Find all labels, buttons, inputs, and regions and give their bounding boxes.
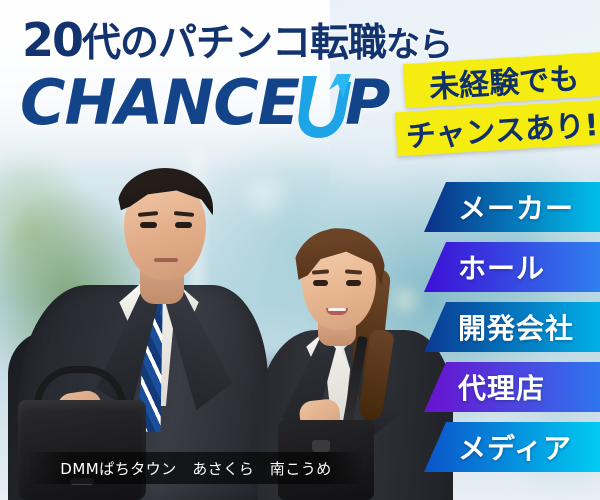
man-eye-right bbox=[175, 222, 192, 228]
category-button-hall-label: ホール bbox=[458, 247, 545, 287]
category-button-developer-label: 開発会社 bbox=[458, 307, 574, 347]
woman-teeth bbox=[328, 308, 346, 311]
headline-chance-word: CHANCE bbox=[20, 70, 299, 136]
category-button-hall[interactable]: ホール bbox=[424, 242, 600, 292]
woman-eye-left bbox=[313, 280, 328, 286]
category-button-agency[interactable]: 代理店 bbox=[424, 362, 600, 412]
man-briefcase bbox=[18, 400, 146, 500]
category-button-media[interactable]: メディア bbox=[424, 422, 600, 472]
category-button-agency-label: 代理店 bbox=[458, 367, 545, 407]
category-button-developer[interactable]: 開発会社 bbox=[424, 302, 600, 352]
man-mouth bbox=[154, 258, 178, 262]
headline-age-number: 20 bbox=[22, 13, 82, 67]
category-button-media-label: メディア bbox=[458, 427, 572, 467]
man-eye-left bbox=[140, 222, 157, 228]
advertisement-banner[interactable]: 20代のパチンコ転職なら CHANCE P 未経験でも チャンスあり! メーカー… bbox=[0, 0, 600, 500]
chance-up-p-letter: P bbox=[345, 70, 390, 136]
woman-bag-clasp bbox=[312, 440, 330, 452]
photo-credit-text: DMMぱちタウン あさくら 南こうめ bbox=[60, 458, 331, 479]
category-button-maker[interactable]: メーカー bbox=[424, 182, 600, 232]
headline-line-1: 20代のパチンコ転職なら bbox=[22, 18, 452, 67]
photo-credit-band: DMMぱちタウン あさくら 南こうめ bbox=[30, 452, 362, 484]
category-button-maker-label: メーカー bbox=[458, 187, 574, 227]
woman-eye-right bbox=[346, 280, 361, 286]
headline-line-1-suffix: なら bbox=[386, 25, 452, 65]
headline-line-1-main: 代のパチンコ転職 bbox=[82, 21, 386, 66]
